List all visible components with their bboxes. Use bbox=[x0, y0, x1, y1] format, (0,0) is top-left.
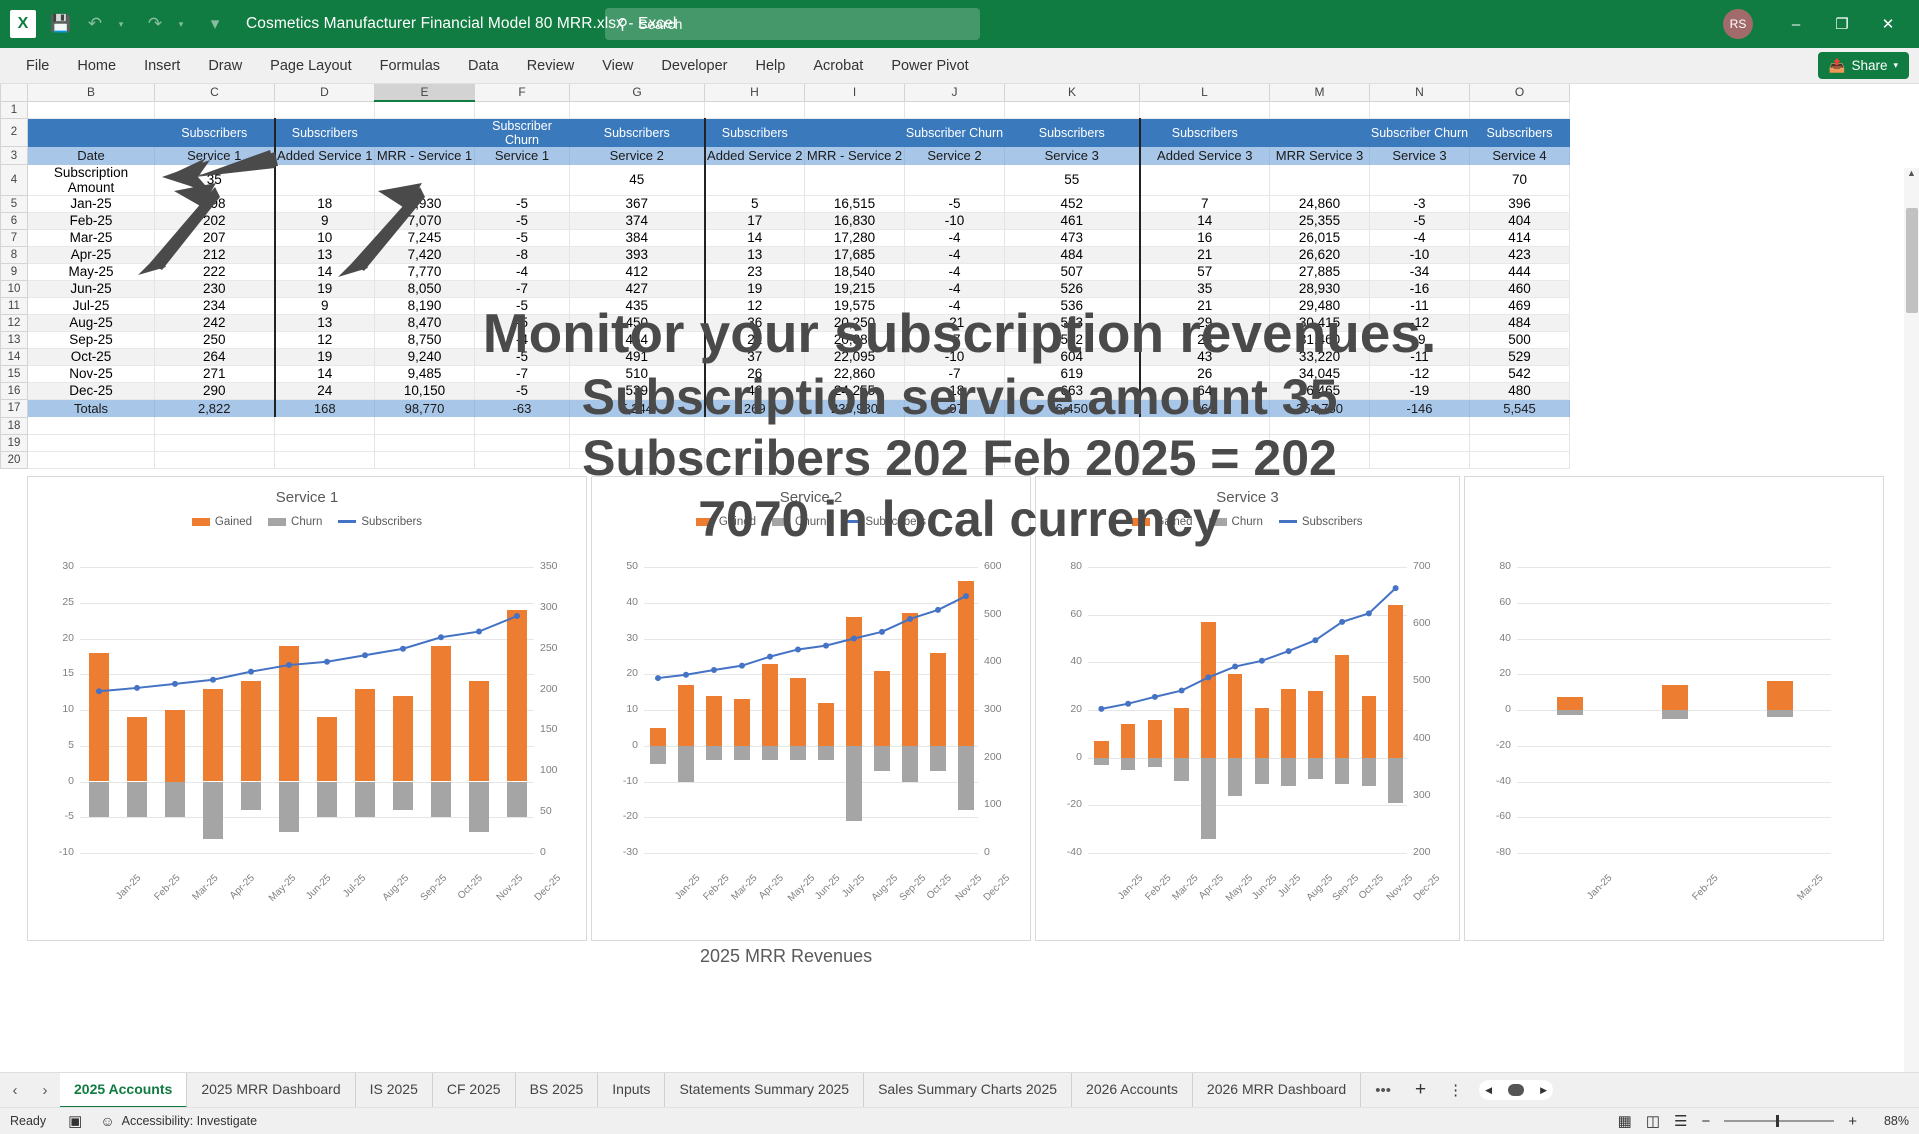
table-row[interactable]: 16Dec-252902410,150-55394624,255-1866364… bbox=[1, 382, 1570, 399]
cell[interactable]: 70 bbox=[1470, 165, 1570, 196]
cell[interactable] bbox=[475, 451, 570, 468]
share-button[interactable]: 📤 Share ▾ bbox=[1818, 52, 1909, 79]
table-row[interactable]: 6Feb-2520297,070-53741716,830-104611425,… bbox=[1, 212, 1570, 229]
column-header-H[interactable]: H bbox=[705, 84, 805, 101]
ribbon-tab-acrobat[interactable]: Acrobat bbox=[799, 48, 877, 84]
column-header-D[interactable]: D bbox=[275, 84, 375, 101]
row-header-15[interactable]: 15 bbox=[1, 365, 28, 382]
cell[interactable] bbox=[705, 434, 805, 451]
cell[interactable]: -8 bbox=[475, 246, 570, 263]
cell[interactable] bbox=[155, 417, 275, 434]
totals-cell[interactable]: 269 bbox=[705, 399, 805, 417]
totals-cell[interactable]: -97 bbox=[905, 399, 1005, 417]
ribbon-tab-power-pivot[interactable]: Power Pivot bbox=[877, 48, 982, 84]
sheet-tab-inputs[interactable]: Inputs bbox=[598, 1073, 665, 1108]
row-header-10[interactable]: 10 bbox=[1, 280, 28, 297]
cell[interactable]: 20,880 bbox=[805, 331, 905, 348]
table-row[interactable]: 12Aug-25242138,470-54503620,250-21553293… bbox=[1, 314, 1570, 331]
cell[interactable]: -4 bbox=[905, 280, 1005, 297]
cell[interactable] bbox=[1370, 165, 1470, 196]
cell[interactable]: -3 bbox=[1370, 195, 1470, 212]
cell[interactable] bbox=[28, 417, 155, 434]
cell[interactable]: -9 bbox=[1370, 331, 1470, 348]
cell[interactable] bbox=[1140, 451, 1270, 468]
cell[interactable]: 13 bbox=[275, 314, 375, 331]
cell[interactable]: 7 bbox=[1140, 195, 1270, 212]
cell[interactable]: -10 bbox=[905, 348, 1005, 365]
totals-cell[interactable]: 2,822 bbox=[155, 399, 275, 417]
cell[interactable]: 663 bbox=[1005, 382, 1140, 399]
column-header-B[interactable]: B bbox=[28, 84, 155, 101]
cell[interactable]: 491 bbox=[570, 348, 705, 365]
header-cell[interactable]: Subscribers bbox=[1470, 118, 1570, 147]
sheet-tab-cf-2025[interactable]: CF 2025 bbox=[433, 1073, 516, 1108]
sheet-tab-statements-summary-2025[interactable]: Statements Summary 2025 bbox=[665, 1073, 864, 1108]
header-cell[interactable] bbox=[28, 118, 155, 147]
cell[interactable] bbox=[1370, 451, 1470, 468]
row-header-13[interactable]: 13 bbox=[1, 331, 28, 348]
cell[interactable]: -5 bbox=[475, 195, 570, 212]
header-cell[interactable]: Subscribers bbox=[1140, 118, 1270, 147]
cell[interactable] bbox=[475, 165, 570, 196]
cell[interactable]: 30,415 bbox=[1270, 314, 1370, 331]
qat-more-icon[interactable]: ▾ bbox=[198, 7, 232, 41]
sheet-row-20[interactable]: 20 bbox=[1, 451, 1570, 468]
cell[interactable]: -4 bbox=[475, 331, 570, 348]
zoom-slider[interactable] bbox=[1724, 1120, 1834, 1122]
cell[interactable]: -5 bbox=[475, 348, 570, 365]
cell[interactable]: 28,930 bbox=[1270, 280, 1370, 297]
row-header-4[interactable]: 4 bbox=[1, 165, 28, 196]
cell[interactable]: -21 bbox=[905, 314, 1005, 331]
cell[interactable]: -5 bbox=[1370, 212, 1470, 229]
save-icon[interactable]: 💾 bbox=[44, 7, 78, 41]
next-sheet-button[interactable]: › bbox=[30, 1082, 60, 1099]
chart-card-4[interactable]: 806040200-20-40-60-80Jan-25Feb-25Mar-25 bbox=[1464, 476, 1884, 941]
cell[interactable]: -4 bbox=[905, 229, 1005, 246]
row-header-6[interactable]: 6 bbox=[1, 212, 28, 229]
cell[interactable]: -10 bbox=[1370, 246, 1470, 263]
scrollbar-thumb[interactable] bbox=[1906, 208, 1918, 313]
cell[interactable] bbox=[1005, 451, 1140, 468]
cell[interactable]: 25,355 bbox=[1270, 212, 1370, 229]
avatar[interactable]: RS bbox=[1723, 9, 1753, 39]
cell[interactable] bbox=[1270, 451, 1370, 468]
cell[interactable] bbox=[1005, 417, 1140, 434]
cell[interactable]: 500 bbox=[1470, 331, 1570, 348]
cell[interactable]: 450 bbox=[570, 314, 705, 331]
cell[interactable]: 37 bbox=[705, 348, 805, 365]
restore-button[interactable]: ❐ bbox=[1819, 0, 1865, 48]
column-header-C[interactable]: C bbox=[155, 84, 275, 101]
totals-label[interactable]: Totals bbox=[28, 399, 155, 417]
cell[interactable] bbox=[1370, 101, 1470, 118]
cell[interactable] bbox=[705, 101, 805, 118]
cell[interactable]: 13 bbox=[705, 246, 805, 263]
cell[interactable] bbox=[275, 417, 375, 434]
header-cell[interactable]: MRR - Service 1 bbox=[375, 147, 475, 165]
cell[interactable] bbox=[705, 165, 805, 196]
cell[interactable] bbox=[905, 165, 1005, 196]
cell[interactable] bbox=[1370, 417, 1470, 434]
totals-row[interactable]: 17Totals2,82216898,770-635,244269235,980… bbox=[1, 399, 1570, 417]
cell[interactable]: 393 bbox=[570, 246, 705, 263]
row-header-14[interactable]: 14 bbox=[1, 348, 28, 365]
header-cell[interactable]: Added Service 3 bbox=[1140, 147, 1270, 165]
sheet-tab-2026-mrr-dashboard[interactable]: 2026 MRR Dashboard bbox=[1193, 1073, 1361, 1108]
header-cell[interactable] bbox=[805, 118, 905, 147]
cell[interactable] bbox=[375, 417, 475, 434]
ribbon-tab-file[interactable]: File bbox=[12, 48, 63, 84]
cell[interactable]: 31,460 bbox=[1270, 331, 1370, 348]
row-header-2[interactable]: 2 bbox=[1, 118, 28, 147]
cell[interactable]: 24,255 bbox=[805, 382, 905, 399]
cell[interactable] bbox=[1005, 101, 1140, 118]
header-cell[interactable]: Subscribers bbox=[275, 118, 375, 147]
row-header-3[interactable]: 3 bbox=[1, 147, 28, 165]
cell[interactable] bbox=[475, 417, 570, 434]
header-cell[interactable]: Subscribers bbox=[1005, 118, 1140, 147]
cell[interactable]: 536 bbox=[1005, 297, 1140, 314]
cell[interactable]: 9 bbox=[275, 297, 375, 314]
cell[interactable]: 414 bbox=[1470, 229, 1570, 246]
cell[interactable]: 27,885 bbox=[1270, 263, 1370, 280]
sheet-row-19[interactable]: 19 bbox=[1, 434, 1570, 451]
cell[interactable] bbox=[155, 451, 275, 468]
cell[interactable] bbox=[805, 417, 905, 434]
cell[interactable]: 9,240 bbox=[375, 348, 475, 365]
cell[interactable]: 17,280 bbox=[805, 229, 905, 246]
header-cell[interactable]: Subscriber Churn bbox=[1370, 118, 1470, 147]
cell[interactable]: 435 bbox=[570, 297, 705, 314]
ribbon-tab-insert[interactable]: Insert bbox=[130, 48, 194, 84]
cell[interactable]: 55 bbox=[1005, 165, 1140, 196]
table-row[interactable]: 15Nov-25271149,485-75102622,860-76192634… bbox=[1, 365, 1570, 382]
cell[interactable]: 460 bbox=[1470, 280, 1570, 297]
cell[interactable] bbox=[705, 417, 805, 434]
header-cell[interactable] bbox=[1270, 118, 1370, 147]
column-header-G[interactable]: G bbox=[570, 84, 705, 101]
ribbon-tab-home[interactable]: Home bbox=[63, 48, 130, 84]
table-row[interactable]: 14Oct-25264199,240-54913722,095-10604433… bbox=[1, 348, 1570, 365]
column-header-K[interactable]: K bbox=[1005, 84, 1140, 101]
cell[interactable]: 5 bbox=[705, 195, 805, 212]
cell[interactable] bbox=[905, 101, 1005, 118]
cell[interactable] bbox=[375, 451, 475, 468]
status-accessibility[interactable]: Accessibility: Investigate bbox=[122, 1114, 257, 1128]
horizontal-scrollbar[interactable]: ◀ ▶ bbox=[1479, 1080, 1553, 1100]
cell[interactable]: 619 bbox=[1005, 365, 1140, 382]
cell[interactable]: 12 bbox=[275, 331, 375, 348]
cell[interactable]: -5 bbox=[475, 382, 570, 399]
cell[interactable]: 64 bbox=[1140, 382, 1270, 399]
cell[interactable]: 14 bbox=[705, 229, 805, 246]
cell[interactable] bbox=[155, 101, 275, 118]
cell[interactable] bbox=[1270, 434, 1370, 451]
ribbon-tab-review[interactable]: Review bbox=[513, 48, 589, 84]
cell[interactable]: 19,575 bbox=[805, 297, 905, 314]
cell[interactable]: 427 bbox=[570, 280, 705, 297]
cell[interactable] bbox=[1270, 101, 1370, 118]
row-header-7[interactable]: 7 bbox=[1, 229, 28, 246]
cell[interactable] bbox=[155, 434, 275, 451]
totals-cell[interactable]: 235,980 bbox=[805, 399, 905, 417]
cell[interactable] bbox=[805, 451, 905, 468]
cell[interactable] bbox=[28, 451, 155, 468]
cell[interactable]: 18,540 bbox=[805, 263, 905, 280]
cell[interactable]: 469 bbox=[1470, 297, 1570, 314]
sheet-tab-2025-mrr-dashboard[interactable]: 2025 MRR Dashboard bbox=[187, 1073, 355, 1108]
row-header-12[interactable]: 12 bbox=[1, 314, 28, 331]
cell[interactable]: -34 bbox=[1370, 263, 1470, 280]
header-cell[interactable]: Subscribers bbox=[570, 118, 705, 147]
column-header-F[interactable]: F bbox=[475, 84, 570, 101]
add-sheet-button[interactable]: + bbox=[1405, 1079, 1436, 1101]
cell[interactable] bbox=[805, 165, 905, 196]
cell[interactable]: -16 bbox=[1370, 280, 1470, 297]
header-cell[interactable]: Subscriber Churn bbox=[475, 118, 570, 147]
cell[interactable]: 526 bbox=[1005, 280, 1140, 297]
header-cell[interactable]: Subscribers bbox=[705, 118, 805, 147]
header-cell[interactable]: Service 4 bbox=[1470, 147, 1570, 165]
cell[interactable]: 46 bbox=[705, 382, 805, 399]
sheet-tab-2026-accounts[interactable]: 2026 Accounts bbox=[1072, 1073, 1193, 1108]
sheet-tab-is-2025[interactable]: IS 2025 bbox=[356, 1073, 433, 1108]
cell[interactable]: 374 bbox=[570, 212, 705, 229]
cell-date[interactable]: Nov-25 bbox=[28, 365, 155, 382]
undo-dropdown-icon[interactable]: ▾ bbox=[104, 7, 138, 41]
cell[interactable]: 16,515 bbox=[805, 195, 905, 212]
cell[interactable]: 510 bbox=[570, 365, 705, 382]
column-header-J[interactable]: J bbox=[905, 84, 1005, 101]
cell[interactable]: 8,190 bbox=[375, 297, 475, 314]
cell[interactable]: 480 bbox=[1470, 382, 1570, 399]
totals-cell[interactable]: 6,450 bbox=[1005, 399, 1140, 417]
cell[interactable]: 26 bbox=[1140, 365, 1270, 382]
cell[interactable] bbox=[28, 101, 155, 118]
cell[interactable]: 19 bbox=[275, 348, 375, 365]
chart-card-3[interactable]: Service 3GainedChurnSubscribers806040200… bbox=[1035, 476, 1460, 941]
cell[interactable] bbox=[1140, 165, 1270, 196]
sheet-options-button[interactable]: ⋮ bbox=[1436, 1081, 1475, 1099]
header-cell[interactable]: Service 2 bbox=[905, 147, 1005, 165]
cell[interactable]: -18 bbox=[905, 382, 1005, 399]
cell[interactable]: 17 bbox=[705, 212, 805, 229]
cell[interactable]: 250 bbox=[155, 331, 275, 348]
cell[interactable]: 367 bbox=[570, 195, 705, 212]
cell[interactable] bbox=[805, 101, 905, 118]
cell[interactable]: 24,860 bbox=[1270, 195, 1370, 212]
cell[interactable]: 234 bbox=[155, 297, 275, 314]
row-header-18[interactable]: 18 bbox=[1, 417, 28, 434]
chart-card-1[interactable]: Service 1GainedChurnSubscribers302520151… bbox=[27, 476, 587, 941]
cell[interactable]: -7 bbox=[475, 365, 570, 382]
cell[interactable]: 484 bbox=[1005, 246, 1140, 263]
redo-dropdown-icon[interactable]: ▾ bbox=[164, 7, 198, 41]
cell[interactable]: -4 bbox=[1370, 229, 1470, 246]
cell[interactable]: 23 bbox=[705, 263, 805, 280]
cell[interactable]: 404 bbox=[1470, 212, 1570, 229]
ribbon-tab-view[interactable]: View bbox=[588, 48, 647, 84]
cell-date[interactable]: Oct-25 bbox=[28, 348, 155, 365]
cell-date[interactable]: Sep-25 bbox=[28, 331, 155, 348]
cell[interactable] bbox=[805, 434, 905, 451]
cell[interactable] bbox=[275, 451, 375, 468]
header-cell[interactable]: MRR Service 3 bbox=[1270, 147, 1370, 165]
cell[interactable]: 9,485 bbox=[375, 365, 475, 382]
cell[interactable] bbox=[570, 101, 705, 118]
totals-cell[interactable]: 168 bbox=[275, 399, 375, 417]
cell[interactable]: 16 bbox=[1140, 229, 1270, 246]
cell[interactable]: 21 bbox=[705, 331, 805, 348]
row-header-1[interactable]: 1 bbox=[1, 101, 28, 118]
cell[interactable]: 8,750 bbox=[375, 331, 475, 348]
header-cell[interactable]: Service 3 bbox=[1370, 147, 1470, 165]
table-row[interactable]: 10Jun-25230198,050-74271919,215-45263528… bbox=[1, 280, 1570, 297]
more-sheets-button[interactable]: ••• bbox=[1361, 1082, 1405, 1099]
column-header-M[interactable]: M bbox=[1270, 84, 1370, 101]
cell[interactable]: 412 bbox=[570, 263, 705, 280]
cell[interactable] bbox=[275, 101, 375, 118]
cell[interactable]: 36 bbox=[705, 314, 805, 331]
row-header-5[interactable]: 5 bbox=[1, 195, 28, 212]
cell[interactable]: -5 bbox=[475, 212, 570, 229]
zoom-slider-thumb[interactable] bbox=[1776, 1115, 1779, 1127]
cell[interactable] bbox=[1470, 417, 1570, 434]
cell[interactable] bbox=[375, 434, 475, 451]
cell[interactable] bbox=[1370, 434, 1470, 451]
ribbon-tab-formulas[interactable]: Formulas bbox=[366, 48, 454, 84]
cell[interactable]: 290 bbox=[155, 382, 275, 399]
cell[interactable]: 26,015 bbox=[1270, 229, 1370, 246]
cell[interactable]: 26,620 bbox=[1270, 246, 1370, 263]
zoom-in-button[interactable]: + bbox=[1848, 1113, 1857, 1130]
column-header-E[interactable]: E bbox=[375, 84, 475, 101]
cell[interactable]: 507 bbox=[1005, 263, 1140, 280]
row-header-17[interactable]: 17 bbox=[1, 399, 28, 417]
totals-cell[interactable]: -146 bbox=[1370, 399, 1470, 417]
cell[interactable]: 473 bbox=[1005, 229, 1140, 246]
cell[interactable]: 539 bbox=[570, 382, 705, 399]
cell[interactable]: -10 bbox=[905, 212, 1005, 229]
header-cell[interactable]: MRR - Service 2 bbox=[805, 147, 905, 165]
cell[interactable]: 464 bbox=[570, 331, 705, 348]
cell[interactable]: 35 bbox=[1140, 280, 1270, 297]
cell[interactable]: 572 bbox=[1005, 331, 1140, 348]
cell[interactable]: -7 bbox=[475, 280, 570, 297]
cell[interactable] bbox=[275, 434, 375, 451]
vertical-scrollbar[interactable]: ▲ ▼ bbox=[1904, 168, 1919, 1072]
cell[interactable]: -5 bbox=[475, 229, 570, 246]
cell[interactable] bbox=[570, 451, 705, 468]
chart-card-2[interactable]: Service 2GainedChurnSubscribers504030201… bbox=[591, 476, 1031, 941]
page-layout-view-icon[interactable]: ◫ bbox=[1646, 1112, 1660, 1130]
zoom-out-button[interactable]: − bbox=[1701, 1113, 1710, 1130]
cell[interactable]: 21 bbox=[1140, 246, 1270, 263]
cell[interactable]: 264 bbox=[155, 348, 275, 365]
ribbon-tab-developer[interactable]: Developer bbox=[647, 48, 741, 84]
cell[interactable]: 17,685 bbox=[805, 246, 905, 263]
cell[interactable]: 21 bbox=[1140, 297, 1270, 314]
cell[interactable]: 461 bbox=[1005, 212, 1140, 229]
cell[interactable] bbox=[375, 101, 475, 118]
sheet-row-18[interactable]: 18 bbox=[1, 417, 1570, 434]
totals-cell[interactable]: 5,545 bbox=[1470, 399, 1570, 417]
page-break-view-icon[interactable]: ☰ bbox=[1674, 1112, 1687, 1130]
search-input[interactable]: ⚲ Search bbox=[605, 8, 980, 40]
header-cell[interactable]: Service 2 bbox=[570, 147, 705, 165]
worksheet-grid[interactable]: BCDEFGHIJKLMNO12SubscribersSubscribersSu… bbox=[0, 84, 1919, 1072]
cell[interactable]: 529 bbox=[1470, 348, 1570, 365]
cell[interactable] bbox=[475, 101, 570, 118]
cell[interactable]: 33,220 bbox=[1270, 348, 1370, 365]
cell[interactable]: 14 bbox=[275, 365, 375, 382]
cell[interactable] bbox=[1270, 417, 1370, 434]
cell[interactable]: -4 bbox=[905, 297, 1005, 314]
cell[interactable] bbox=[905, 417, 1005, 434]
cell[interactable]: 271 bbox=[155, 365, 275, 382]
cell[interactable]: -12 bbox=[1370, 365, 1470, 382]
totals-cell[interactable]: 361 bbox=[1140, 399, 1270, 417]
cell[interactable] bbox=[1470, 101, 1570, 118]
cell[interactable]: 384 bbox=[570, 229, 705, 246]
cell[interactable] bbox=[570, 434, 705, 451]
row-header-9[interactable]: 9 bbox=[1, 263, 28, 280]
cell[interactable]: 542 bbox=[1470, 365, 1570, 382]
cell-date[interactable]: Aug-25 bbox=[28, 314, 155, 331]
minimize-button[interactable]: – bbox=[1773, 0, 1819, 48]
scroll-up-icon[interactable]: ▲ bbox=[1904, 168, 1919, 178]
table-row[interactable]: 7Mar-25207107,245-53841417,280-44731626,… bbox=[1, 229, 1570, 246]
cell[interactable]: 19 bbox=[705, 280, 805, 297]
cell[interactable]: 16,830 bbox=[805, 212, 905, 229]
cell[interactable]: 19,215 bbox=[805, 280, 905, 297]
cell[interactable]: -5 bbox=[475, 297, 570, 314]
cell[interactable]: -7 bbox=[905, 365, 1005, 382]
header-cell[interactable]: Added Service 1 bbox=[275, 147, 375, 165]
column-header-O[interactable]: O bbox=[1470, 84, 1570, 101]
cell[interactable]: 26 bbox=[705, 365, 805, 382]
column-header-I[interactable]: I bbox=[805, 84, 905, 101]
row-header-16[interactable]: 16 bbox=[1, 382, 28, 399]
column-header-L[interactable]: L bbox=[1140, 84, 1270, 101]
cell[interactable]: -11 bbox=[1370, 348, 1470, 365]
record-macro-icon[interactable]: ▣ bbox=[68, 1112, 82, 1130]
cell[interactable] bbox=[905, 451, 1005, 468]
sheet-tab-bs-2025[interactable]: BS 2025 bbox=[516, 1073, 599, 1108]
cell[interactable]: 604 bbox=[1005, 348, 1140, 365]
row-header-20[interactable]: 20 bbox=[1, 451, 28, 468]
close-button[interactable]: ✕ bbox=[1865, 0, 1911, 48]
totals-cell[interactable]: 98,770 bbox=[375, 399, 475, 417]
cell[interactable] bbox=[705, 451, 805, 468]
ribbon-tab-page-layout[interactable]: Page Layout bbox=[256, 48, 365, 84]
cell[interactable] bbox=[1470, 451, 1570, 468]
cell[interactable] bbox=[905, 434, 1005, 451]
zoom-level[interactable]: 88% bbox=[1871, 1114, 1909, 1128]
totals-cell[interactable]: 354,750 bbox=[1270, 399, 1370, 417]
cell[interactable]: -12 bbox=[1370, 314, 1470, 331]
cell[interactable]: -4 bbox=[905, 246, 1005, 263]
normal-view-icon[interactable]: ▦ bbox=[1618, 1112, 1632, 1130]
cell[interactable]: 43 bbox=[1140, 348, 1270, 365]
cell[interactable]: 452 bbox=[1005, 195, 1140, 212]
cell[interactable] bbox=[570, 417, 705, 434]
row-header-8[interactable]: 8 bbox=[1, 246, 28, 263]
cell[interactable]: 34,045 bbox=[1270, 365, 1370, 382]
hscroll-right-icon[interactable]: ▶ bbox=[1540, 1085, 1547, 1096]
cell[interactable] bbox=[1005, 434, 1140, 451]
